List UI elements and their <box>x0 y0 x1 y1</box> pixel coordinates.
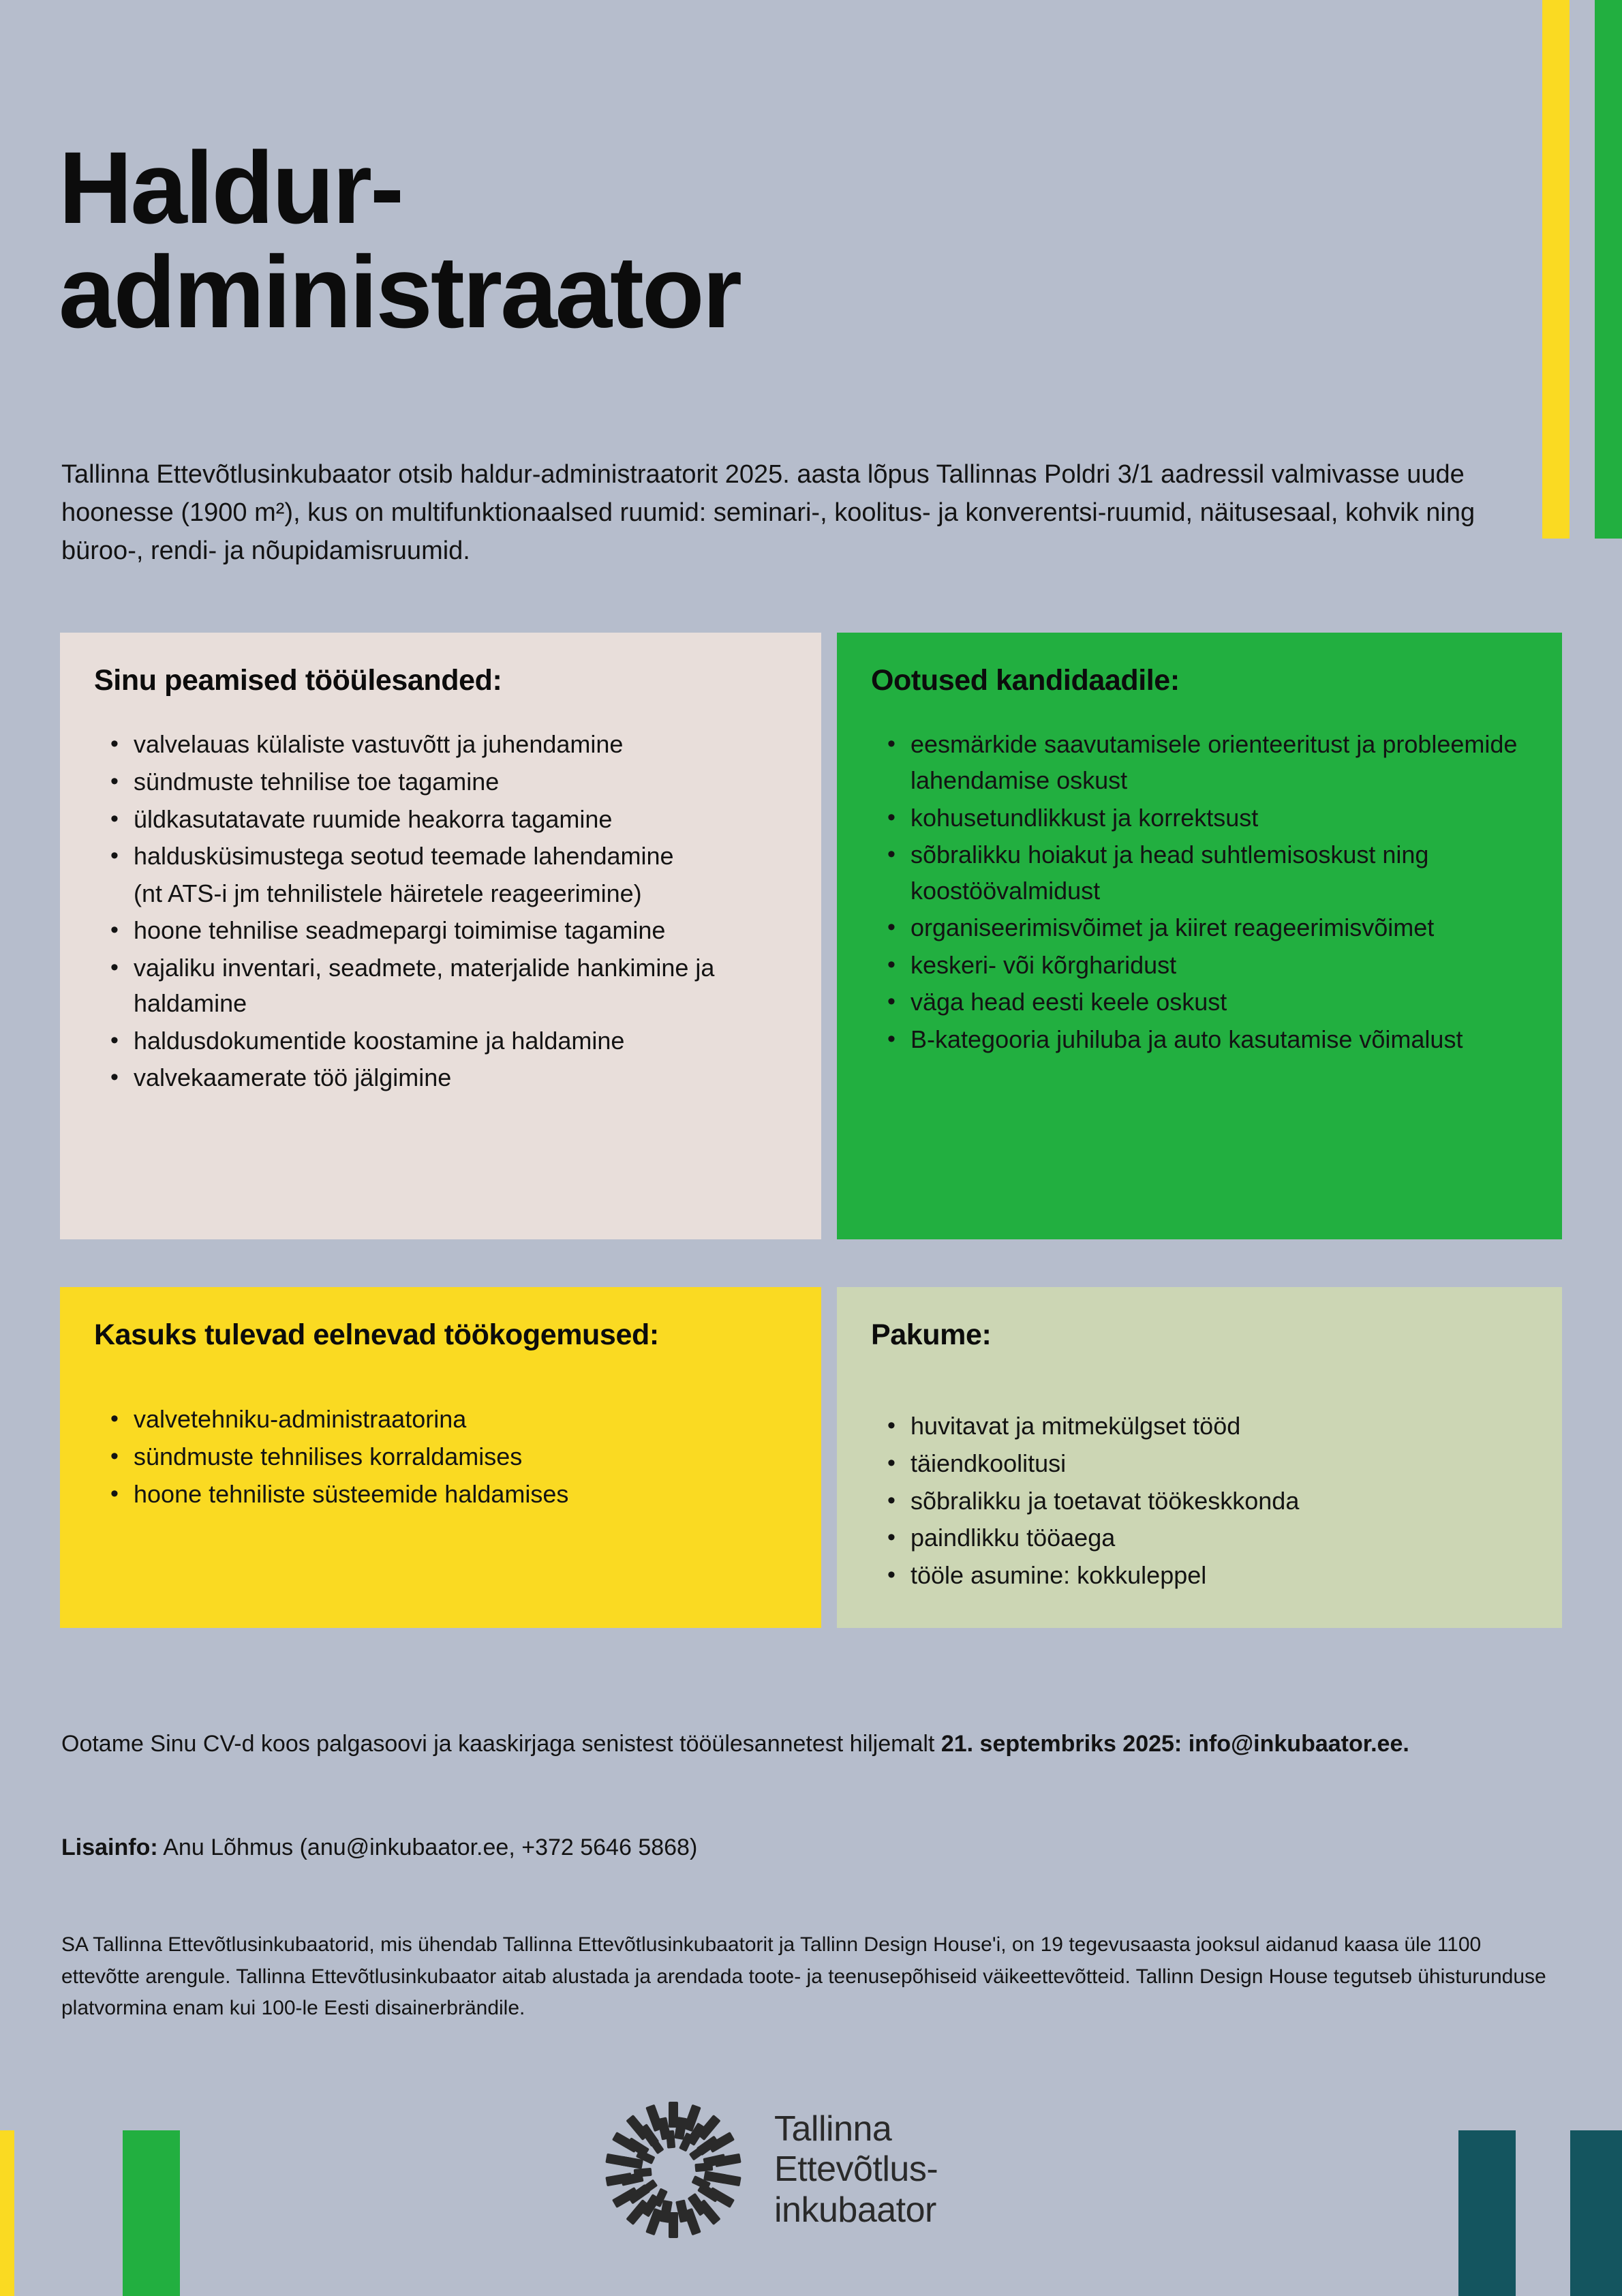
list-item: haldusküsimustega seotud teemade lahenda… <box>134 839 787 875</box>
contact-value: Anu Lõhmus (anu@inkubaator.ee, +372 5646… <box>158 1834 698 1860</box>
page-title: Haldur- administraator <box>59 136 1353 344</box>
card-offer-heading: Pakume: <box>871 1317 1528 1353</box>
card-main-tasks: Sinu peamised tööülesanded: valvelauas k… <box>60 633 821 1239</box>
apply-email-link[interactable]: info@inkubaator.ee <box>1189 1731 1403 1757</box>
company-logo: Tallinna Ettevõtlus- inkubaator <box>598 2091 1048 2248</box>
contact-info: Lisainfo: Anu Lõhmus (anu@inkubaator.ee,… <box>61 1830 1554 1866</box>
list-item: tööle asumine: kokkuleppel <box>911 1558 1528 1594</box>
card-expectations: Ootused kandidaadile: eesmärkide saavuta… <box>837 633 1562 1239</box>
list-item: organiseerimisvõimet ja kiiret reageerim… <box>911 910 1528 946</box>
list-item: täiendkoolitusi <box>911 1446 1528 1482</box>
card-experience-list: valvetehniku-administraatorina sündmuste… <box>94 1402 787 1512</box>
list-item: sõbralikku ja toetavat töökeskkonda <box>911 1483 1528 1520</box>
apply-deadline: 21. septembriks 2025: <box>941 1731 1182 1757</box>
card-expectations-list: eesmärkide saavutamisele orienteeritust … <box>871 727 1528 1057</box>
list-item: sündmuste tehnilises korraldamises <box>134 1439 787 1475</box>
list-item: valvekaamerate töö jälgimine <box>134 1060 787 1096</box>
list-item: B-kategooria juhiluba ja auto kasutamise… <box>911 1022 1528 1058</box>
card-expectations-heading: Ootused kandidaadile: <box>871 663 1528 698</box>
apply-prefix: Ootame Sinu CV-d koos palgasoovi ja kaas… <box>61 1731 941 1757</box>
list-item: kohusetundlikkust ja korrektsust <box>911 800 1528 836</box>
card-experience: Kasuks tulevad eelnevad töökogemused: va… <box>60 1287 821 1628</box>
decor-bar-bottom-green <box>123 2130 180 2296</box>
card-offer: Pakume: huvitavat ja mitmekülgset tööd t… <box>837 1287 1562 1628</box>
about-company-paragraph: SA Tallinna Ettevõtlusinkubaatorid, mis … <box>61 1929 1561 2025</box>
list-item: sõbralikku hoiakut ja head suhtlemisosku… <box>911 837 1528 909</box>
list-item: sündmuste tehnilise toe tagamine <box>134 764 787 800</box>
list-item: keskeri- või kõrgharidust <box>911 948 1528 984</box>
card-tasks-list: valvelauas külaliste vastuvõtt ja juhend… <box>94 727 787 1096</box>
list-item: paindlikku tööaega <box>911 1520 1528 1556</box>
decor-bar-top-yellow <box>1542 0 1570 539</box>
apply-suffix: . <box>1403 1731 1409 1757</box>
card-experience-heading: Kasuks tulevad eelnevad töökogemused: <box>94 1317 787 1353</box>
list-item: vajaliku inventari, seadmete, materjalid… <box>134 950 787 1022</box>
apply-instructions: Ootame Sinu CV-d koos palgasoovi ja kaas… <box>61 1726 1554 1762</box>
list-item: väga head eesti keele oskust <box>911 984 1528 1021</box>
spiral-logo-icon <box>598 2095 748 2245</box>
list-item: eesmärkide saavutamisele orienteeritust … <box>911 727 1528 798</box>
decor-bar-top-green <box>1595 0 1622 539</box>
intro-paragraph: Tallinna Ettevõtlusinkubaator otsib hald… <box>61 455 1479 571</box>
card-tasks-heading: Sinu peamised tööülesanded: <box>94 663 787 698</box>
logo-wordmark: Tallinna Ettevõtlus- inkubaator <box>774 2109 938 2231</box>
list-item: haldusdokumentide koostamine ja haldamin… <box>134 1023 787 1059</box>
list-item: hoone tehnilise seadmepargi toimimise ta… <box>134 913 787 949</box>
list-item: hoone tehniliste süsteemide haldamises <box>134 1477 787 1513</box>
card-offer-list: huvitavat ja mitmekülgset tööd täiendkoo… <box>871 1408 1528 1593</box>
decor-bar-bottom-teal-left <box>1458 2130 1516 2296</box>
list-item: valvelauas külaliste vastuvõtt ja juhend… <box>134 727 787 763</box>
decor-bar-bottom-teal-right <box>1570 2130 1622 2296</box>
decor-bar-bottom-yellow <box>0 2130 14 2296</box>
list-item-note: (nt ATS-i jm tehnilistele häiretele reag… <box>134 876 787 912</box>
contact-label: Lisainfo: <box>61 1834 158 1860</box>
list-item: valvetehniku-administraatorina <box>134 1402 787 1438</box>
list-item: üldkasutatavate ruumide heakorra tagamin… <box>134 802 787 838</box>
list-item: huvitavat ja mitmekülgset tööd <box>911 1408 1528 1445</box>
